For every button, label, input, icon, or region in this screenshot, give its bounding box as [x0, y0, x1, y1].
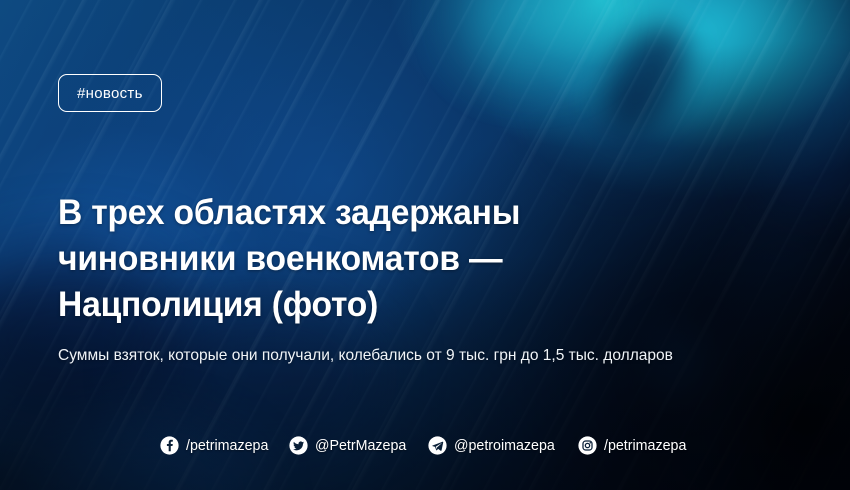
instagram-icon — [578, 436, 597, 455]
social-link-telegram[interactable]: @petroimazepa — [428, 436, 560, 455]
card-content: #новость В трех областях задержаны чинов… — [0, 0, 850, 490]
twitter-icon — [289, 436, 308, 455]
social-link-facebook[interactable]: /petrimazepa — [160, 436, 273, 455]
social-handle-instagram: /petrimazepa — [604, 437, 686, 454]
social-link-twitter[interactable]: @PetrMazepa — [289, 436, 411, 455]
social-handle-twitter: @PetrMazepa — [315, 437, 406, 454]
social-handle-telegram: @petroimazepa — [454, 437, 555, 454]
telegram-icon — [428, 436, 447, 455]
news-banner-card: #новость В трех областях задержаны чинов… — [0, 0, 850, 490]
social-links: /petrimazepa @PetrMazepa @petroimazepa — [0, 436, 850, 455]
facebook-icon — [160, 436, 179, 455]
page-title: В трех областях задержаны чиновники воен… — [58, 190, 692, 328]
category-badge[interactable]: #новость — [58, 74, 162, 112]
category-badge-label: #новость — [77, 85, 143, 102]
subtitle: Суммы взяток, которые они получали, коле… — [58, 346, 737, 366]
social-handle-facebook: /petrimazepa — [186, 437, 268, 454]
social-link-instagram[interactable]: /petrimazepa — [578, 436, 691, 455]
